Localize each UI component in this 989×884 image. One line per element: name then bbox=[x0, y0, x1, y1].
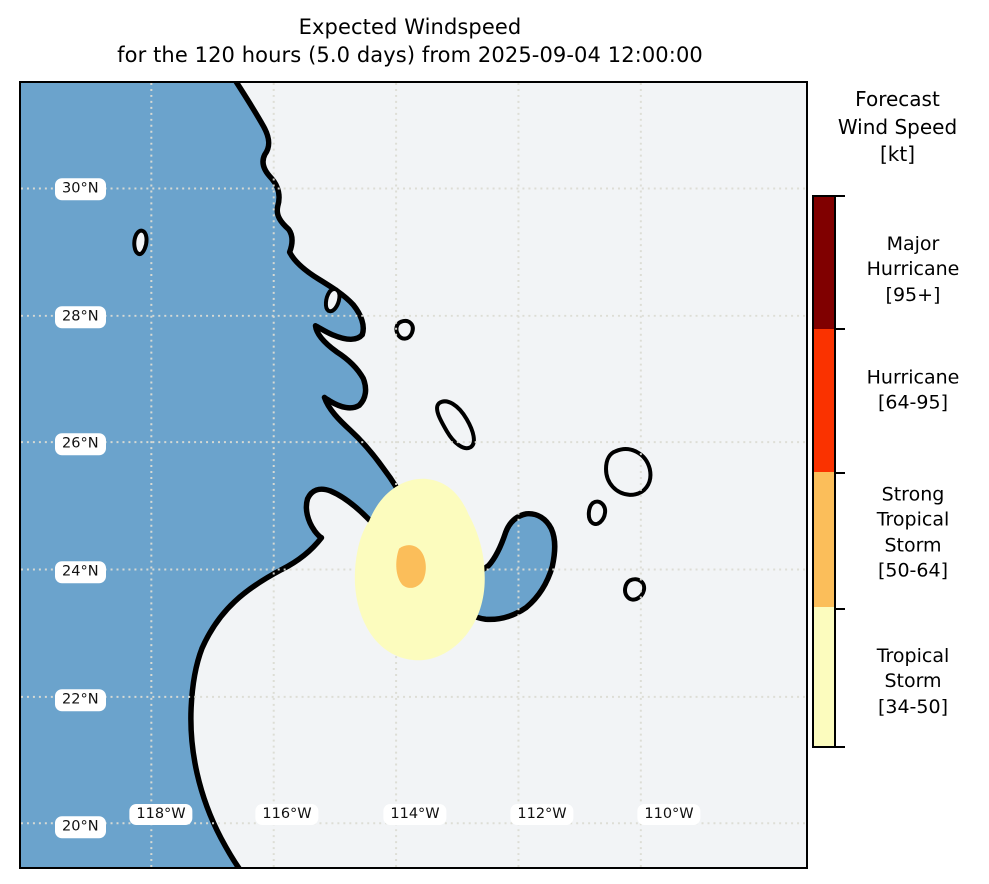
label-sts-line1: Strong bbox=[838, 482, 988, 507]
colorbar-title-line-1: Forecast bbox=[806, 86, 989, 114]
colorbar[interactable] bbox=[812, 195, 836, 748]
colorbar-segment-tropical-storm[interactable] bbox=[814, 607, 834, 746]
lon-label-114w: 114°W bbox=[383, 804, 446, 826]
colorbar-segment-strong-tropical-storm[interactable] bbox=[814, 472, 834, 607]
lat-label-24n: 24°N bbox=[55, 561, 106, 583]
colorbar-title: Forecast Wind Speed [kt] bbox=[806, 86, 989, 169]
island-tiburon bbox=[606, 449, 650, 495]
label-sts-line3: Storm bbox=[838, 533, 988, 558]
chart-title: Expected Windspeed for the 120 hours (5.… bbox=[0, 14, 820, 70]
colorbar-title-line-3: [kt] bbox=[806, 141, 989, 169]
label-ts-line2: Storm bbox=[838, 669, 988, 694]
colorbar-label-tropical-storm: Tropical Storm [34-50] bbox=[838, 644, 988, 720]
colorbar-label-hurricane: Hurricane [64-95] bbox=[838, 366, 988, 417]
label-sts-line2: Tropical bbox=[838, 508, 988, 533]
label-major-hurricane-range: [95+] bbox=[838, 283, 988, 308]
map-panel[interactable]: 30°N 28°N 26°N 24°N 22°N 20°N 118°W 116°… bbox=[19, 81, 808, 869]
island-cedros bbox=[134, 231, 146, 254]
lon-label-110w: 110°W bbox=[637, 804, 700, 826]
colorbar-segment-major-hurricane[interactable] bbox=[814, 197, 834, 329]
lon-label-116w: 116°W bbox=[255, 804, 318, 826]
lat-label-28n: 28°N bbox=[55, 306, 106, 328]
lon-label-112w: 112°W bbox=[510, 804, 573, 826]
map-geography bbox=[21, 83, 806, 867]
lat-label-22n: 22°N bbox=[55, 689, 106, 711]
colorbar-tick-95 bbox=[836, 328, 845, 330]
label-ts-line1: Tropical bbox=[838, 644, 988, 669]
colorbar-title-line-2: Wind Speed bbox=[806, 114, 989, 142]
colorbar-label-major-hurricane: Major Hurricane [95+] bbox=[838, 232, 988, 308]
colorbar-tick-top bbox=[836, 195, 845, 197]
label-major-hurricane-line2: Hurricane bbox=[838, 257, 988, 282]
map-canvas[interactable] bbox=[21, 83, 806, 867]
label-sts-range: [50-64] bbox=[838, 558, 988, 583]
island-magdalena bbox=[396, 321, 412, 339]
colorbar-label-strong-tropical-storm: Strong Tropical Storm [50-64] bbox=[838, 482, 988, 583]
lon-label-118w: 118°W bbox=[129, 804, 192, 826]
colorbar-segment-hurricane[interactable] bbox=[814, 329, 834, 472]
island-carmen bbox=[589, 502, 605, 524]
colorbar-tick-50 bbox=[836, 608, 845, 610]
label-hurricane-range: [64-95] bbox=[838, 391, 988, 416]
title-line-1: Expected Windspeed bbox=[0, 14, 820, 42]
title-line-2: for the 120 hours (5.0 days) from 2025-0… bbox=[0, 42, 820, 70]
lat-label-26n: 26°N bbox=[55, 433, 106, 455]
lat-label-30n: 30°N bbox=[55, 178, 106, 200]
colorbar-tick-64 bbox=[836, 472, 845, 474]
label-hurricane-line1: Hurricane bbox=[838, 366, 988, 391]
lat-label-20n: 20°N bbox=[55, 816, 106, 838]
label-ts-range: [34-50] bbox=[838, 695, 988, 720]
colorbar-tick-34 bbox=[836, 746, 845, 748]
label-major-hurricane-line1: Major bbox=[838, 232, 988, 257]
island-natividad bbox=[326, 289, 340, 311]
